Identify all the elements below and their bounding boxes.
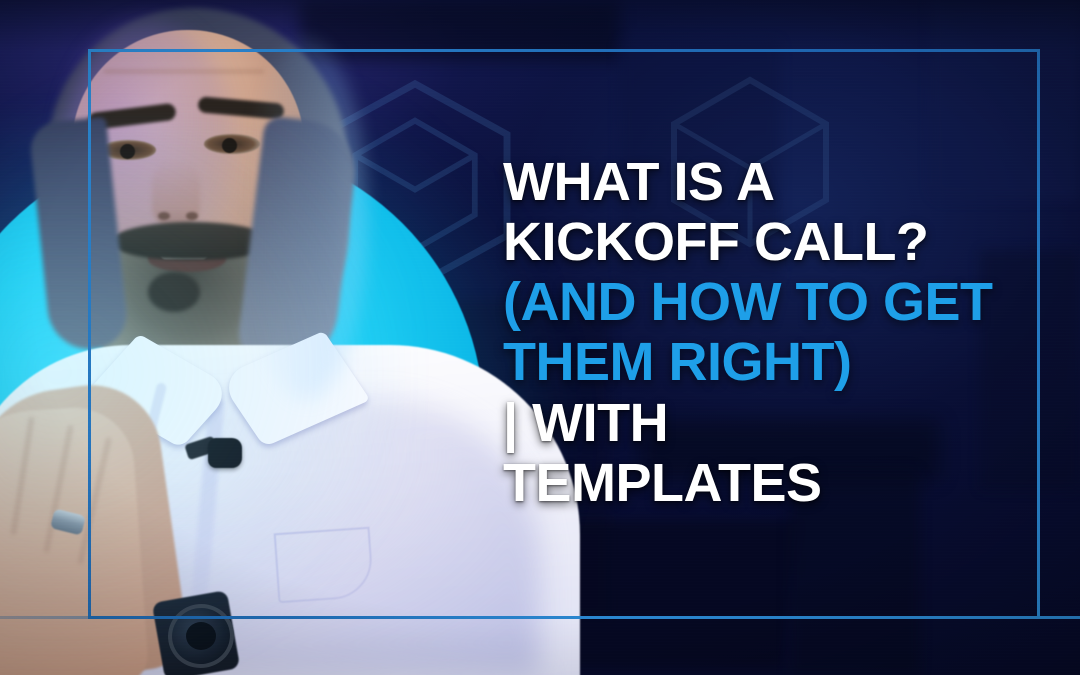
soul-patch <box>148 272 200 312</box>
title-line-2: KICKOFF CALL? <box>503 212 1048 272</box>
rim-light <box>246 40 366 400</box>
watch-dial <box>186 622 216 650</box>
lapel-microphone <box>208 438 242 468</box>
title-line-4: THEM RIGHT) <box>503 332 1048 392</box>
forehead-crease <box>104 70 264 73</box>
presenter-portrait <box>0 0 520 675</box>
pupil-left <box>120 144 135 159</box>
chair-silhouette <box>552 520 798 670</box>
title-block: WHAT IS A KICKOFF CALL? (AND HOW TO GET … <box>503 152 1048 513</box>
nostril-left <box>158 212 170 220</box>
nostril-right <box>186 212 198 220</box>
title-line-5: | WITH <box>503 393 1048 453</box>
pupil-right <box>222 138 237 153</box>
hand-front <box>0 404 150 675</box>
title-line-6: TEMPLATES <box>503 453 1048 513</box>
video-thumbnail: WHAT IS A KICKOFF CALL? (AND HOW TO GET … <box>0 0 1080 675</box>
title-line-3: (AND HOW TO GET <box>503 272 1048 332</box>
title-line-1: WHAT IS A <box>503 152 1048 212</box>
